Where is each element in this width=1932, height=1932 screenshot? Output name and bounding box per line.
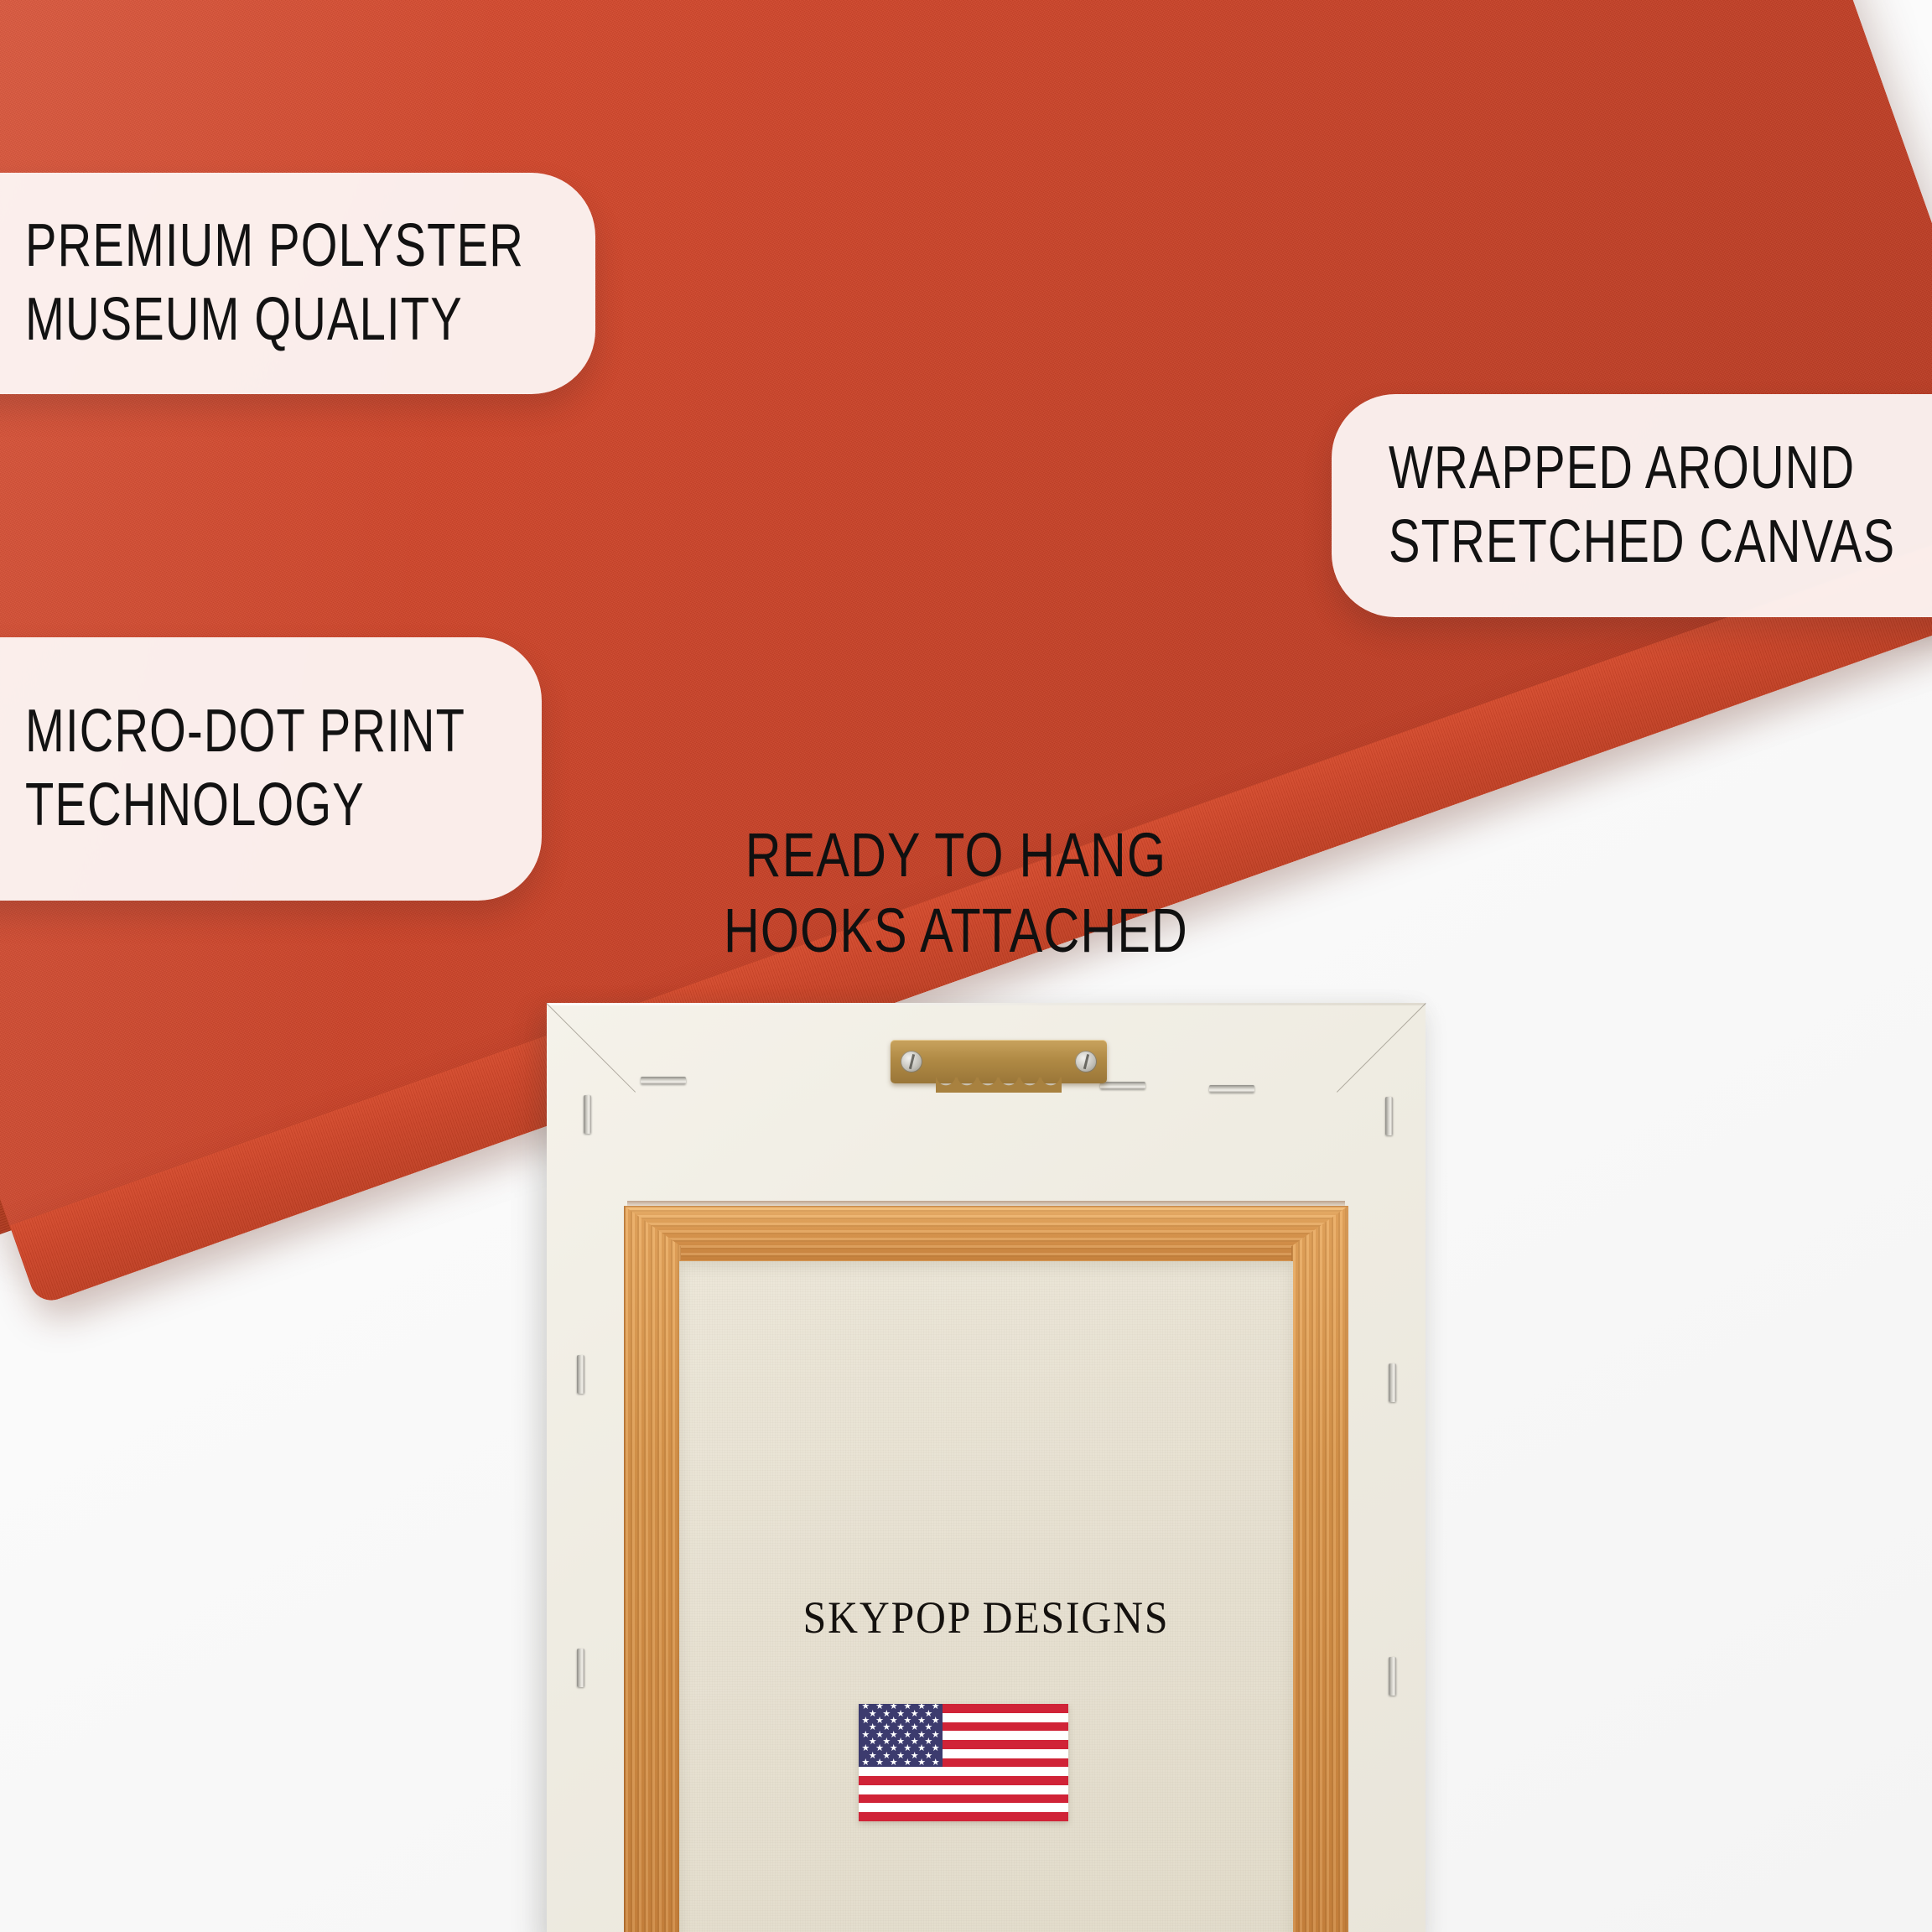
feature-label-microdot-line2: TECHNOLOGY (25, 769, 365, 843)
hanger-screw-right (1075, 1051, 1097, 1072)
brand-name: SKYPOP DESIGNS (582, 1592, 1390, 1644)
ready-to-hang-heading: READY TO HANG HOOKS ATTACHED (587, 818, 1325, 969)
ready-to-hang-line1: READY TO HANG (661, 818, 1251, 893)
board-top-bevel (547, 1003, 1426, 1005)
feature-label-wrapped: WRAPPED AROUND STRETCHED CANVAS (1332, 394, 1932, 617)
staple-icon (584, 1095, 591, 1134)
staple-icon (1385, 1097, 1393, 1135)
us-flag-icon: ★★★★★★★★★★★★★★★★★★★★★★★★★★★★★★★★★★★★★★★★… (859, 1704, 1068, 1821)
feature-label-microdot: MICRO-DOT PRINT TECHNOLOGY (0, 637, 542, 901)
flag-stripe (859, 1812, 1068, 1821)
feature-label-microdot-line1: MICRO-DOT PRINT (25, 695, 465, 769)
feature-label-polyster-line1: PREMIUM POLYSTER (25, 210, 524, 283)
feature-label-wrapped-line2: STRETCHED CANVAS (1389, 506, 1895, 579)
canvas-back-view: SKYPOP DESIGNS ★★★★★★★★★★★★★★★★★★★★★★★★★… (547, 1003, 1426, 1932)
flag-stripe (859, 1794, 1068, 1804)
hanger-teeth (936, 1078, 1062, 1093)
staple-icon (1100, 1082, 1145, 1089)
flag-star: ★ (903, 1758, 912, 1768)
staple-icon (1389, 1657, 1396, 1696)
ready-to-hang-line2: HOOKS ATTACHED (661, 893, 1251, 969)
wooden-stretcher-bar-top (624, 1206, 1348, 1265)
feature-label-polyster-line2: MUSEUM QUALITY (25, 283, 463, 357)
wooden-stretcher-bar-right (1291, 1206, 1348, 1932)
flag-star: ★ (931, 1758, 940, 1768)
flag-stripe (859, 1767, 1068, 1776)
flag-star: ★ (889, 1758, 898, 1768)
wooden-stretcher-bar-left (624, 1206, 681, 1932)
infographic-stage: PREMIUM POLYSTER MUSEUM QUALITY WRAPPED … (0, 0, 1932, 1932)
staple-icon (1209, 1085, 1254, 1093)
feature-label-wrapped-line1: WRAPPED AROUND (1389, 432, 1855, 506)
flag-star: ★ (875, 1758, 885, 1768)
staple-icon (1389, 1363, 1396, 1402)
flag-stripe (859, 1803, 1068, 1812)
staple-icon (577, 1355, 584, 1394)
flag-stripe (859, 1785, 1068, 1794)
flag-canton: ★★★★★★★★★★★★★★★★★★★★★★★★★★★★★★★★★★★★★★★★… (859, 1704, 943, 1767)
staple-icon (577, 1649, 584, 1687)
hanger-screw-left (901, 1051, 922, 1072)
feature-label-polyster: PREMIUM POLYSTER MUSEUM QUALITY (0, 173, 595, 394)
staple-icon (641, 1077, 686, 1084)
flag-stripe (859, 1776, 1068, 1785)
flag-star: ★ (861, 1758, 870, 1768)
flag-star: ★ (917, 1758, 927, 1768)
sawtooth-hanger-icon (891, 1040, 1107, 1083)
